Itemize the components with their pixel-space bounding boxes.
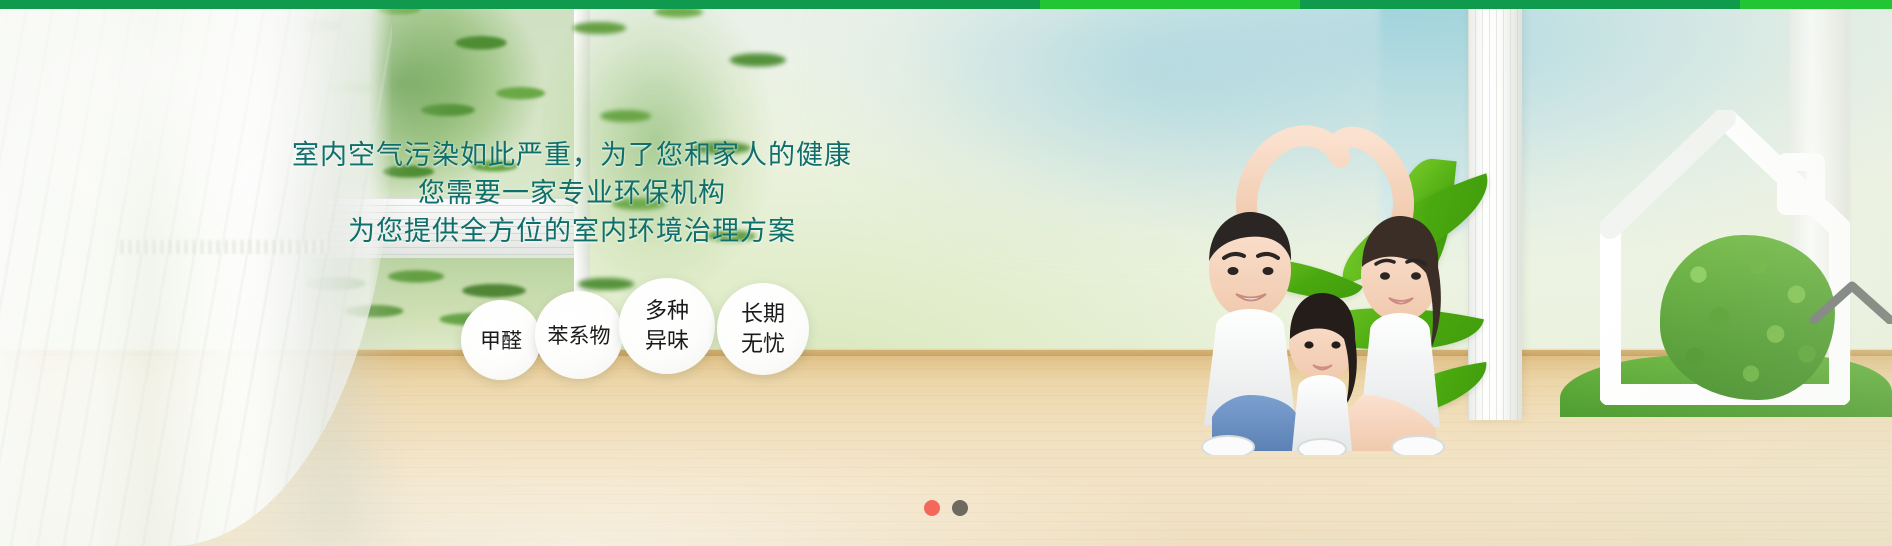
feature-badge-label-top: 多种 — [645, 296, 689, 326]
feature-badge-label-bottom: 无忧 — [741, 329, 785, 359]
curtain-shadow — [250, 0, 400, 546]
feature-badge-long-term-worry-free[interactable]: 长期 无忧 — [717, 283, 809, 375]
carousel-dot-2[interactable] — [952, 500, 968, 516]
top-accent-bar-highlight-right — [1740, 0, 1892, 9]
feature-badge-label: 苯系物 — [548, 320, 611, 350]
curtain-hem — [120, 240, 330, 254]
feature-badge-multiple-odors[interactable]: 多种 异味 — [619, 278, 715, 374]
feature-badge-label-bottom: 异味 — [645, 326, 689, 356]
feature-badge-formaldehyde[interactable]: 甲醛 — [461, 300, 541, 380]
hero-banner: 室内空气污染如此严重，为了您和家人的健康 您需要一家专业环保机构 为您提供全方位… — [0, 0, 1892, 546]
feature-badge-label-top: 长期 — [741, 299, 785, 329]
family-photo — [1100, 95, 1540, 455]
carousel-dots — [0, 500, 1892, 516]
feature-badges: 甲醛 苯系物 多种 异味 长期 无忧 — [461, 272, 809, 380]
top-accent-bar-highlight — [1040, 0, 1300, 9]
chevron-roof-icon — [1808, 278, 1892, 324]
top-accent-bar — [0, 0, 1892, 9]
feature-badge-benzene-series[interactable]: 苯系物 — [535, 291, 623, 379]
feature-badge-label: 甲醛 — [480, 325, 522, 355]
carousel-dot-1[interactable] — [924, 500, 940, 516]
